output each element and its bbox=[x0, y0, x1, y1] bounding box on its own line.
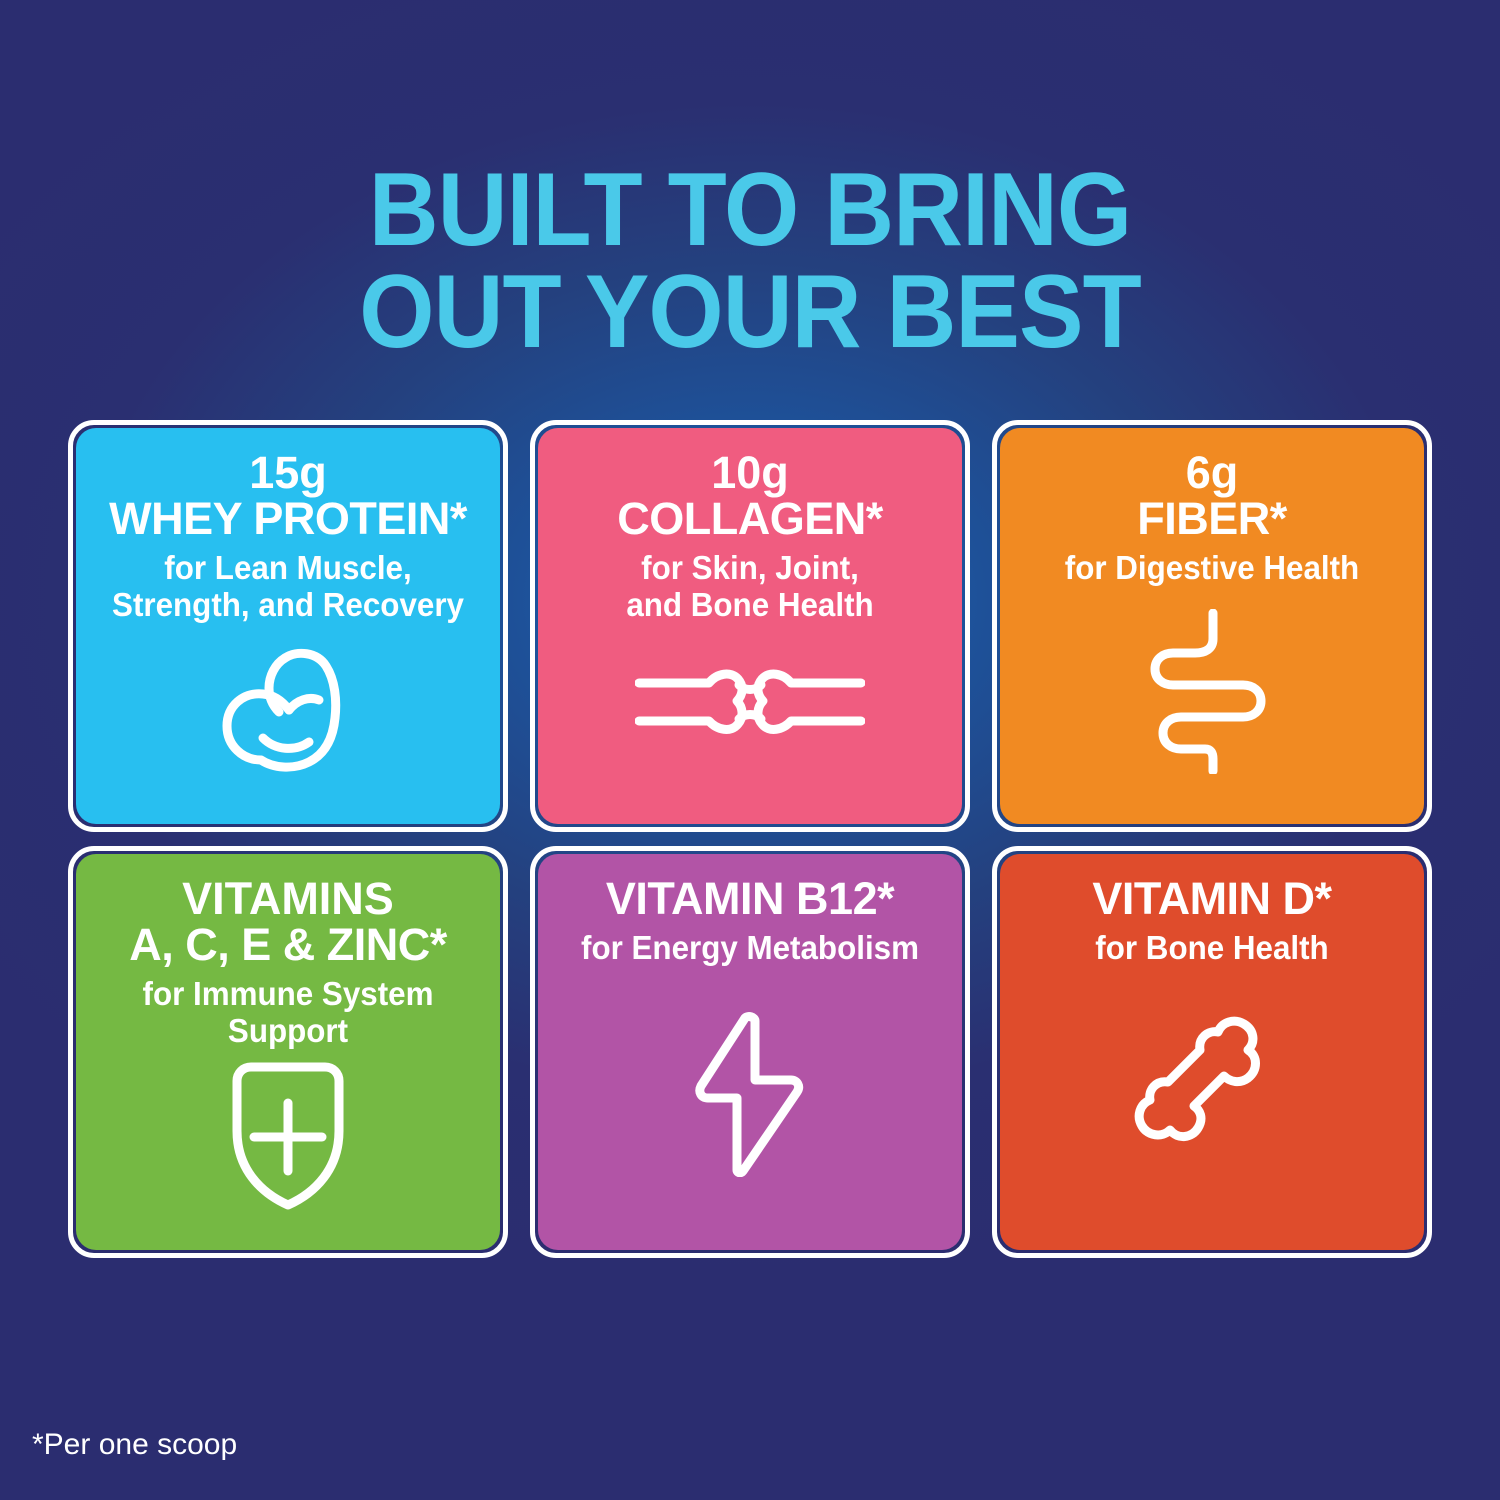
card-amount: 15g bbox=[92, 450, 484, 496]
card-inner: VITAMIN B12* for Energy Metabolism bbox=[538, 854, 962, 1250]
card-nutrient: FIBER* bbox=[1016, 496, 1408, 543]
page-title: BUILT TO BRING OUT YOUR BEST bbox=[53, 160, 1448, 364]
footnote: *Per one scoop bbox=[32, 1428, 237, 1462]
card-text: 15g WHEY PROTEIN* for Lean Muscle, Stren… bbox=[92, 450, 484, 624]
card-benefit-line-1: for Bone Health bbox=[1026, 929, 1398, 967]
benefit-card-vitamin-d: VITAMIN D* for Bone Health bbox=[992, 846, 1432, 1258]
card-nutrient: A, C, E & ZINC* bbox=[92, 922, 484, 969]
card-nutrient: VITAMIN D* bbox=[1016, 876, 1408, 923]
card-text: VITAMINS A, C, E & ZINC* for Immune Syst… bbox=[92, 876, 484, 1050]
intestine-icon bbox=[1147, 609, 1277, 774]
benefit-card-vitamins-ace-zinc: VITAMINS A, C, E & ZINC* for Immune Syst… bbox=[68, 846, 508, 1258]
card-benefit-line-2: Strength, and Recovery bbox=[102, 586, 474, 624]
card-amount: VITAMINS bbox=[92, 876, 484, 922]
card-benefit-line-1: for Immune System Support bbox=[102, 975, 474, 1050]
card-amount: 6g bbox=[1016, 450, 1408, 496]
card-inner: 15g WHEY PROTEIN* for Lean Muscle, Stren… bbox=[76, 428, 500, 824]
card-nutrient: VITAMIN B12* bbox=[554, 876, 946, 923]
benefit-card-collagen: 10g COLLAGEN* for Skin, Joint, and Bone … bbox=[530, 420, 970, 832]
card-text: VITAMIN D* for Bone Health bbox=[1016, 876, 1408, 966]
card-icon-slot bbox=[92, 624, 484, 806]
card-benefit-line-1: for Digestive Health bbox=[1026, 549, 1398, 587]
card-amount: 10g bbox=[554, 450, 946, 496]
card-benefit-line-2: and Bone Health bbox=[564, 586, 936, 624]
card-text: 10g COLLAGEN* for Skin, Joint, and Bone … bbox=[554, 450, 946, 624]
card-nutrient: WHEY PROTEIN* bbox=[92, 496, 484, 543]
card-inner: 6g FIBER* for Digestive Health bbox=[1000, 428, 1424, 824]
bone-icon bbox=[1132, 1014, 1292, 1174]
card-text: 6g FIBER* for Digestive Health bbox=[1016, 450, 1408, 586]
card-inner: 10g COLLAGEN* for Skin, Joint, and Bone … bbox=[538, 428, 962, 824]
headline-line-2: OUT YOUR BEST bbox=[53, 262, 1448, 364]
benefit-card-whey-protein: 15g WHEY PROTEIN* for Lean Muscle, Stren… bbox=[68, 420, 508, 832]
benefit-card-vitamin-b12: VITAMIN B12* for Energy Metabolism bbox=[530, 846, 970, 1258]
card-icon-slot bbox=[1016, 586, 1408, 806]
card-icon-slot bbox=[554, 624, 946, 806]
card-icon-slot bbox=[1016, 966, 1408, 1232]
benefit-card-fiber: 6g FIBER* for Digestive Health bbox=[992, 420, 1432, 832]
headline-line-1: BUILT TO BRING bbox=[53, 160, 1448, 262]
card-benefit-line-1: for Skin, Joint, bbox=[564, 549, 936, 587]
bone-joint-icon bbox=[635, 655, 865, 765]
shield-plus-icon bbox=[223, 1061, 353, 1211]
lightning-bolt-icon bbox=[693, 1012, 808, 1177]
card-benefit-line-1: for Energy Metabolism bbox=[564, 929, 936, 967]
card-nutrient: COLLAGEN* bbox=[554, 496, 946, 543]
card-benefit-line-1: for Lean Muscle, bbox=[102, 549, 474, 587]
benefits-grid: 15g WHEY PROTEIN* for Lean Muscle, Stren… bbox=[68, 420, 1432, 1258]
card-text: VITAMIN B12* for Energy Metabolism bbox=[554, 876, 946, 966]
poster-root: BUILT TO BRING OUT YOUR BEST 15g WHEY PR… bbox=[0, 0, 1500, 1500]
card-icon-slot bbox=[554, 966, 946, 1232]
card-inner: VITAMIN D* for Bone Health bbox=[1000, 854, 1424, 1250]
flexed-bicep-icon bbox=[213, 642, 363, 777]
card-inner: VITAMINS A, C, E & ZINC* for Immune Syst… bbox=[76, 854, 500, 1250]
card-icon-slot bbox=[92, 1050, 484, 1232]
